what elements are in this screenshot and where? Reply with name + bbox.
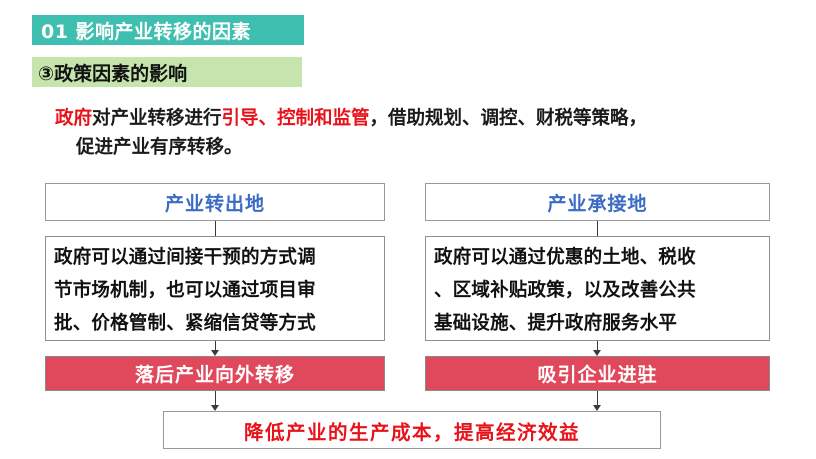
paragraph-text-1: 对产业转移进行 [92,108,222,129]
left-column-header-box: 产业转出地 [45,183,385,221]
right-body-line-2: 、区域补贴政策，以及改善公共 [434,274,763,307]
right-column-result-bar: 吸引企业进驻 [425,356,770,391]
right-column-result-label: 吸引企业进驻 [537,360,657,387]
paragraph-highlight-measures: 引导、控制和监管 [222,108,370,129]
right-body-line-3: 基础设施、提升政府服务水平 [434,307,763,340]
left-column-result-bar: 落后产业向外转移 [45,356,385,391]
connector-right-body-to-result [597,341,598,350]
left-body-line-2: 节市场机制，也可以通过项目审 [54,274,378,307]
right-column-body-box: 政府可以通过优惠的土地、税收 、区域补贴政策，以及改善公共 基础设施、提升政府服… [425,236,770,341]
connector-right-header-to-body [597,221,598,236]
connector-left-header-to-body [215,221,216,236]
paragraph-text-2: ，借助规划、调控、财税等策略， [370,108,648,129]
paragraph-highlight-government: 政府 [55,108,92,129]
section-banner-main-label: 01 影响产业转移的因素 [41,17,251,44]
right-column-header-label: 产业承接地 [547,189,647,216]
connector-right-result-to-conclusion [597,391,598,405]
section-banner-sub-label: ③政策因素的影响 [38,59,187,86]
arrow-head-left-body-to-result-icon [211,350,219,356]
left-column-result-label: 落后产业向外转移 [135,360,295,387]
paragraph-line-2: 促进产业有序转移。 [55,133,785,162]
conclusion-box: 降低产业的生产成本，提高经济效益 [163,411,661,449]
arrow-head-right-body-to-result-icon [593,350,601,356]
body-paragraph: 政府对产业转移进行引导、控制和监管，借助规划、调控、财税等策略， 促进产业有序转… [55,104,785,162]
connector-left-result-to-conclusion [215,391,216,405]
left-column-body-box: 政府可以通过间接干预的方式调 节市场机制，也可以通过项目审 批、价格管制、紧缩信… [45,236,385,341]
left-body-line-3: 批、价格管制、紧缩信贷等方式 [54,307,378,340]
conclusion-label: 降低产业的生产成本，提高经济效益 [244,416,580,445]
section-banner-sub: ③政策因素的影响 [32,57,302,87]
right-column-header-box: 产业承接地 [425,183,770,221]
connector-left-body-to-result [215,341,216,350]
left-body-line-1: 政府可以通过间接干预的方式调 [54,241,378,274]
section-banner-main: 01 影响产业转移的因素 [32,15,304,45]
left-column-header-label: 产业转出地 [165,189,265,216]
right-body-line-1: 政府可以通过优惠的土地、税收 [434,241,763,274]
